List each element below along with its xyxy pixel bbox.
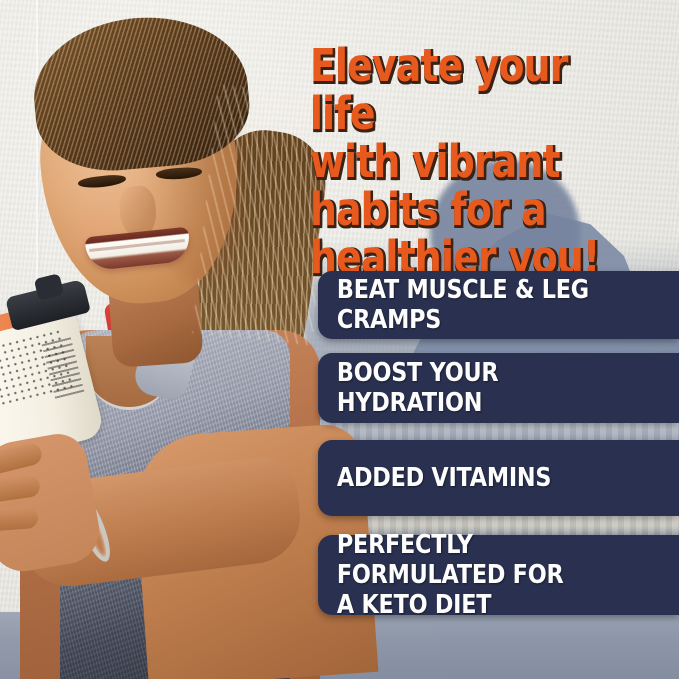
woman-subject xyxy=(0,0,330,679)
headline: Elevate your life with vibrant habits fo… xyxy=(310,42,614,282)
feature-label: PERFECTLY FORMULATED FOR A KETO DIET xyxy=(318,530,628,620)
feature-bar: BOOST YOUR HYDRATION xyxy=(318,353,679,423)
feature-bar: BEAT MUSCLE & LEG CRAMPS xyxy=(318,271,679,339)
feature-label: BEAT MUSCLE & LEG CRAMPS xyxy=(318,275,628,335)
feature-bar: ADDED VITAMINS xyxy=(318,440,679,516)
feature-label: ADDED VITAMINS xyxy=(318,463,560,493)
feature-bar: PERFECTLY FORMULATED FOR A KETO DIET xyxy=(318,535,679,615)
product-banner: Elevate your life with vibrant habits fo… xyxy=(0,0,679,679)
feature-label: BOOST YOUR HYDRATION xyxy=(318,358,628,418)
